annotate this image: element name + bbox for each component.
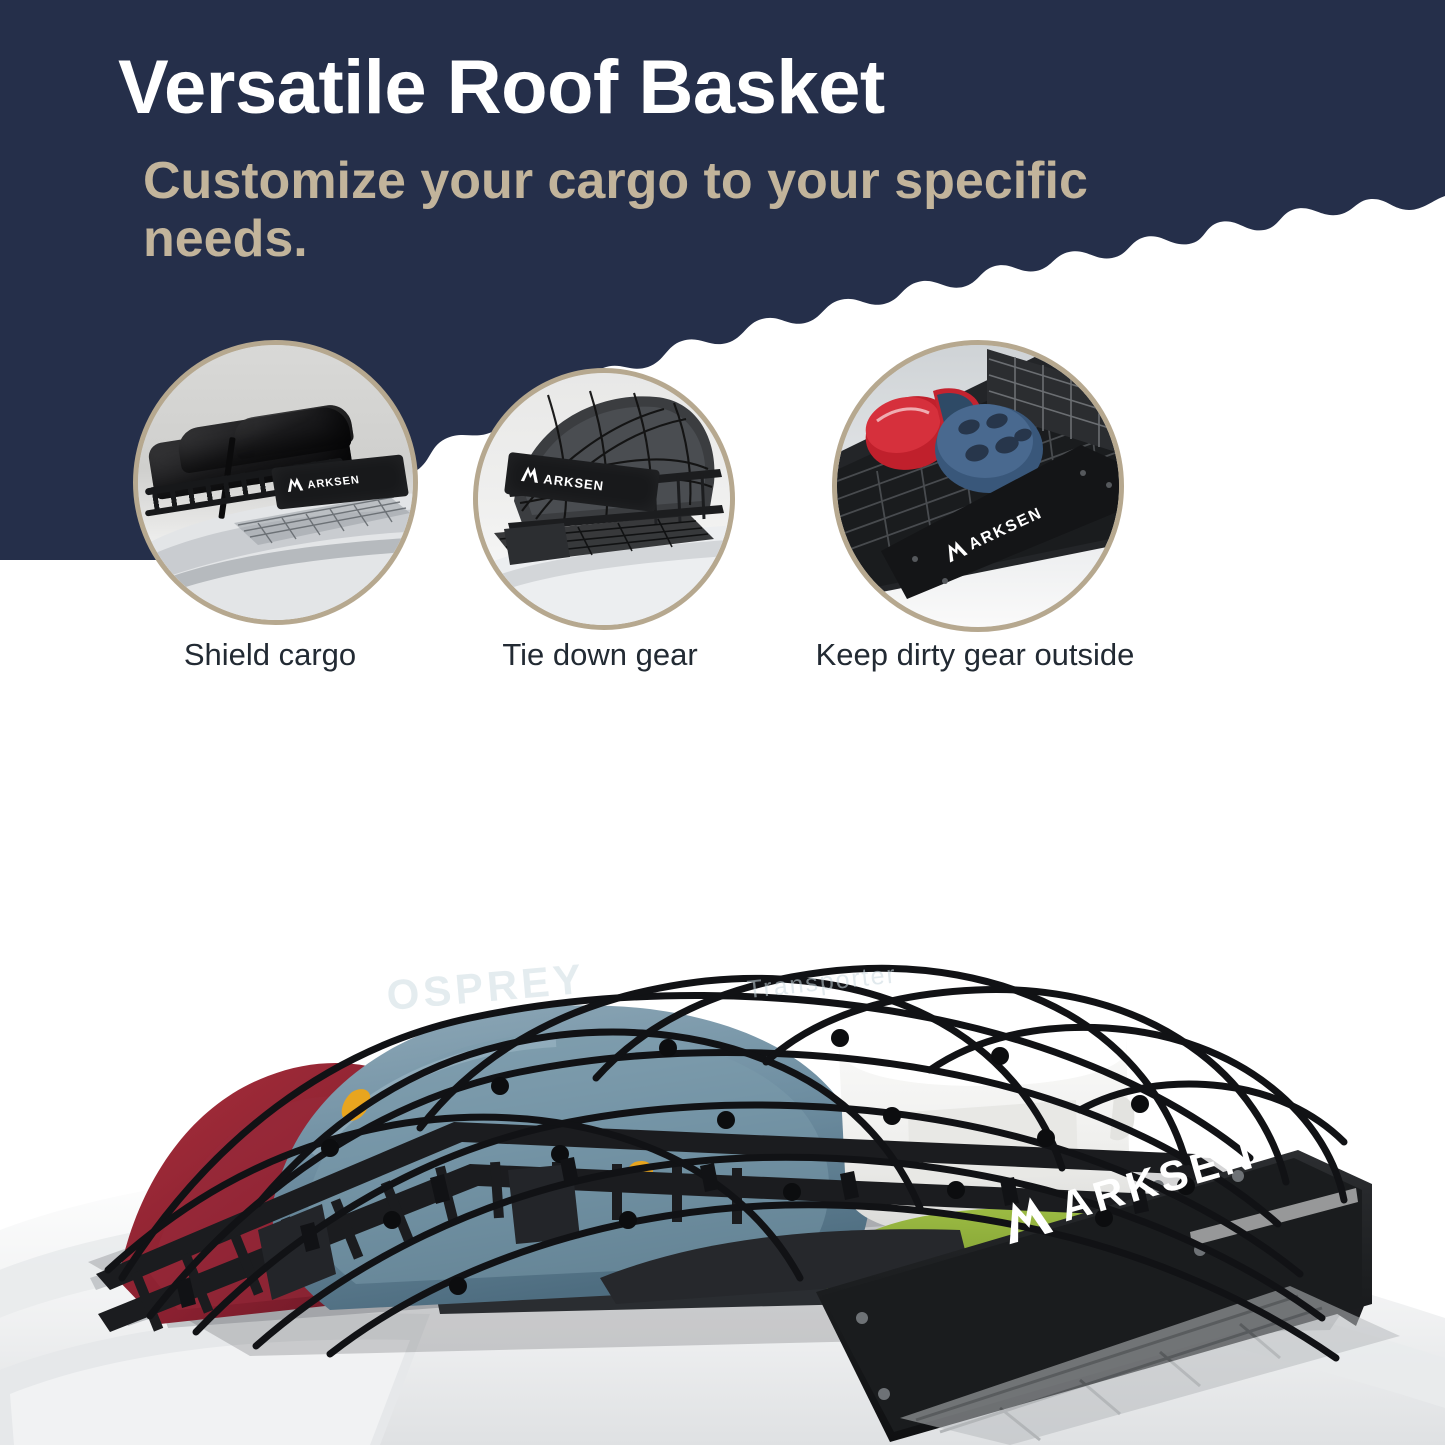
feature-2-image-alt: Cargo covered by a black stretch net on … bbox=[0, 0, 1, 1]
feature-2-image: ARKSEN bbox=[473, 368, 735, 630]
feature-shield-cargo: ARKSEN bbox=[133, 340, 418, 625]
feature-3-image-alt: Red and blue bicycle helmets sitting in … bbox=[0, 0, 1, 1]
feature-2-brand: ARKSEN bbox=[543, 471, 605, 493]
feature-keep-dirty-gear-outside: ARKSEN bbox=[832, 340, 1124, 632]
hero-product-image: OSPREY Transporter ARKSEN bbox=[0, 718, 1445, 1445]
feature-1-image-alt: Black waterproof cargo bag strapped into… bbox=[0, 0, 1, 1]
feature-2-caption: Tie down gear bbox=[400, 636, 800, 675]
arksen-logo-icon bbox=[285, 476, 305, 498]
hero-image-alt: Loaded ARKSEN roof basket on a white SUV… bbox=[0, 0, 1, 1]
feature-1-brand: ARKSEN bbox=[307, 474, 361, 491]
feature-tie-down-gear: ARKSEN bbox=[473, 368, 735, 630]
product-infographic: Versatile Roof Basket Customize your car… bbox=[0, 0, 1445, 1445]
feature-3-image: ARKSEN bbox=[832, 340, 1124, 632]
arksen-logo-icon bbox=[519, 465, 541, 489]
page-title: Versatile Roof Basket bbox=[118, 44, 1318, 131]
feature-3-caption: Keep dirty gear outside bbox=[780, 636, 1170, 675]
feature-1-image: ARKSEN bbox=[133, 340, 418, 625]
page-subtitle: Customize your cargo to your specific ne… bbox=[143, 152, 1263, 268]
